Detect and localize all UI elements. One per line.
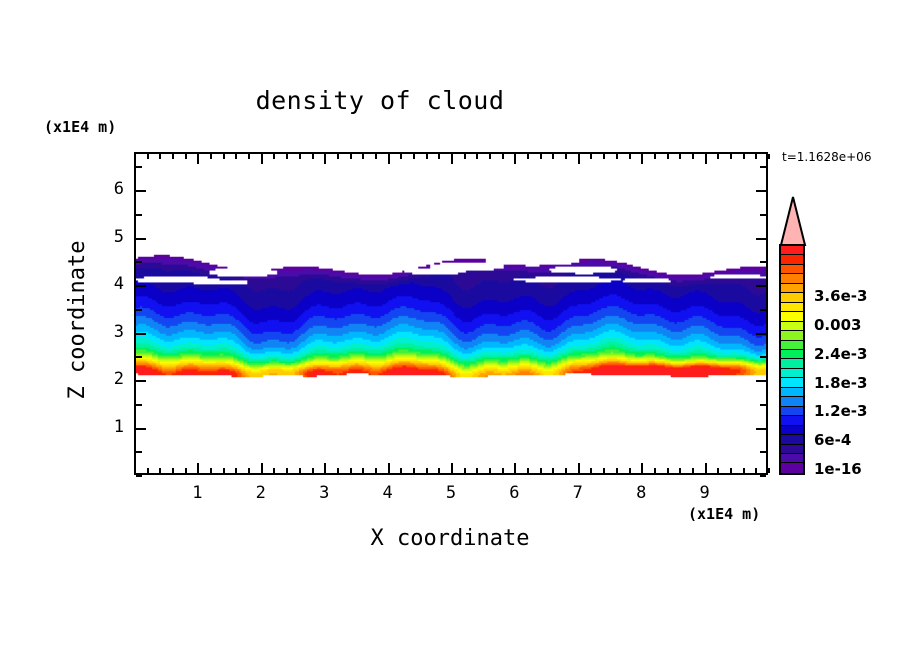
tick-mark [248,154,250,159]
tick-mark [760,261,766,263]
x-tick-label: 4 [373,483,403,503]
x-tick-label: 5 [436,483,466,503]
tick-mark [730,468,732,473]
tick-mark [134,468,136,473]
tick-mark [413,154,415,159]
tick-mark [629,468,631,473]
tick-mark [400,154,402,159]
tick-mark [654,468,656,473]
tick-mark [400,468,402,473]
colorbar-tick-label: 1e-16 [814,460,862,478]
tick-mark [502,468,504,473]
tick-mark [324,154,326,164]
tick-mark [223,154,225,159]
tick-mark [679,154,681,159]
tick-mark [755,154,757,159]
tick-mark [476,154,478,159]
tick-mark [760,214,766,216]
tick-mark [705,154,707,164]
tick-mark [362,154,364,159]
y-tick-label: 2 [98,369,124,389]
x-tick-label: 6 [499,483,529,503]
tick-mark [476,468,478,473]
tick-mark [136,309,142,311]
tick-mark [426,154,428,159]
tick-mark [210,154,212,159]
tick-mark [136,333,146,335]
tick-mark [312,154,314,159]
tick-mark [136,166,142,168]
tick-mark [756,238,766,240]
tick-mark [273,154,275,159]
tick-mark [489,468,491,473]
tick-mark [286,154,288,159]
tick-mark [210,468,212,473]
y-tick-label: 1 [98,417,124,437]
tick-mark [552,468,554,473]
tick-mark [489,154,491,159]
tick-mark [629,154,631,159]
tick-mark [185,468,187,473]
tick-mark [413,468,415,473]
tick-mark [388,154,390,164]
y-tick-label: 3 [98,322,124,342]
tick-mark [223,468,225,473]
tick-mark [451,463,453,473]
tick-mark [578,463,580,473]
tick-mark [514,463,516,473]
tick-mark [730,154,732,159]
tick-mark [273,468,275,473]
tick-mark [527,154,529,159]
tick-mark [502,154,504,159]
tick-mark [616,468,618,473]
tick-mark [136,285,146,287]
tick-mark [261,154,263,164]
tick-mark [760,475,766,477]
x-tick-label: 9 [690,483,720,503]
y-tick-label: 6 [98,179,124,199]
figure-canvas: density of cloud (x1E4 m) t=1.1628e+06 Z… [0,0,904,654]
tick-mark [590,468,592,473]
tick-mark [451,154,453,164]
tick-mark [603,154,605,159]
tick-mark [388,463,390,473]
tick-mark [756,190,766,192]
tick-mark [760,404,766,406]
colorbar-tick-label: 2.4e-3 [814,345,867,363]
tick-mark [565,468,567,473]
tick-mark [136,214,142,216]
tick-mark [159,154,161,159]
axis-ticks: 123456789123456 [0,0,904,654]
tick-mark [768,468,770,473]
x-tick-label: 7 [563,483,593,503]
colorbar-tick-label: 1.8e-3 [814,374,867,392]
tick-mark [136,356,142,358]
tick-mark [679,468,681,473]
tick-mark [248,468,250,473]
tick-mark [692,154,694,159]
tick-mark [743,468,745,473]
tick-mark [760,309,766,311]
tick-mark [136,404,142,406]
tick-mark [603,468,605,473]
y-tick-label: 5 [98,227,124,247]
tick-mark [375,154,377,159]
tick-mark [299,154,301,159]
y-tick-label: 4 [98,274,124,294]
tick-mark [136,380,146,382]
tick-mark [717,154,719,159]
tick-mark [760,451,766,453]
tick-mark [552,154,554,159]
tick-mark [235,468,237,473]
tick-mark [136,190,146,192]
tick-mark [464,468,466,473]
colorbar-tick-label: 1.2e-3 [814,402,867,420]
tick-mark [768,154,770,159]
tick-mark [438,154,440,159]
tick-mark [235,154,237,159]
tick-mark [197,154,199,164]
x-tick-label: 2 [246,483,276,503]
tick-mark [438,468,440,473]
tick-mark [136,261,142,263]
tick-mark [641,154,643,164]
tick-mark [540,468,542,473]
colorbar-labels: 3.6e-30.0032.4e-31.8e-31.2e-36e-41e-16 [778,196,898,486]
x-tick-label: 1 [182,483,212,503]
tick-mark [755,468,757,473]
tick-mark [337,154,339,159]
tick-mark [312,468,314,473]
x-tick-label: 3 [309,483,339,503]
tick-mark [197,463,199,473]
tick-mark [565,154,567,159]
tick-mark [159,468,161,473]
tick-mark [743,154,745,159]
tick-mark [136,238,146,240]
tick-mark [760,166,766,168]
tick-mark [654,154,656,159]
tick-mark [134,154,136,159]
tick-mark [350,154,352,159]
tick-mark [590,154,592,159]
tick-mark [426,468,428,473]
tick-mark [756,380,766,382]
tick-mark [641,463,643,473]
tick-mark [540,154,542,159]
tick-mark [760,356,766,358]
tick-mark [756,428,766,430]
colorbar-tick-label: 3.6e-3 [814,287,867,305]
tick-mark [362,468,364,473]
tick-mark [375,468,377,473]
tick-mark [261,463,263,473]
tick-mark [172,154,174,159]
tick-mark [667,154,669,159]
tick-mark [299,468,301,473]
tick-mark [136,475,142,477]
colorbar-tick-label: 0.003 [814,316,861,334]
tick-mark [185,154,187,159]
tick-mark [756,333,766,335]
tick-mark [136,451,142,453]
tick-mark [324,463,326,473]
tick-mark [464,154,466,159]
tick-mark [172,468,174,473]
tick-mark [514,154,516,164]
tick-mark [756,285,766,287]
tick-mark [147,468,149,473]
tick-mark [527,468,529,473]
tick-mark [350,468,352,473]
x-tick-label: 8 [626,483,656,503]
tick-mark [136,428,146,430]
tick-mark [616,154,618,159]
tick-mark [667,468,669,473]
tick-mark [147,154,149,159]
tick-mark [717,468,719,473]
tick-mark [337,468,339,473]
tick-mark [692,468,694,473]
colorbar-tick-label: 6e-4 [814,431,851,449]
tick-mark [705,463,707,473]
tick-mark [286,468,288,473]
tick-mark [578,154,580,164]
